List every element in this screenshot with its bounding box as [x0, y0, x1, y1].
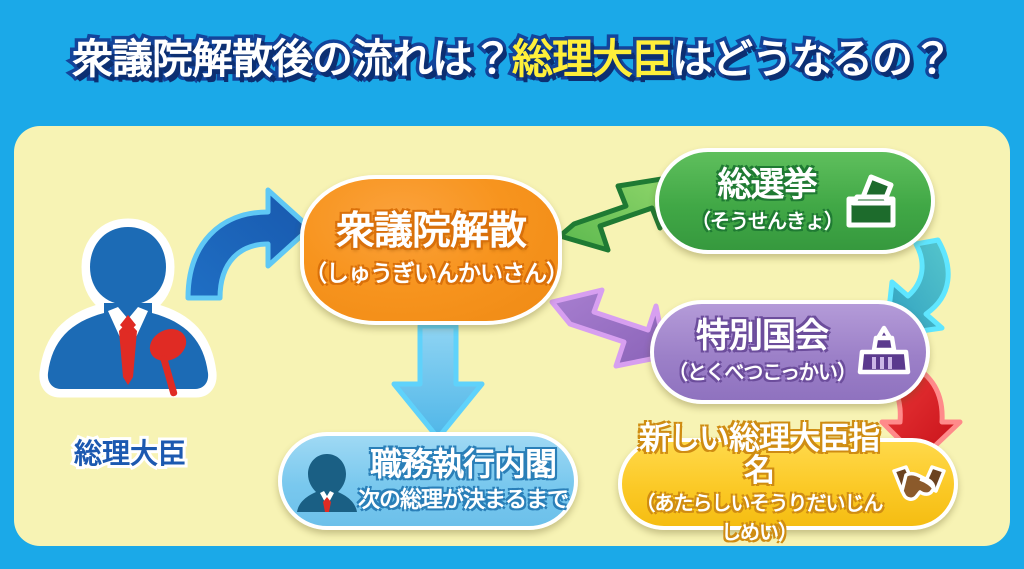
node-dissolution-ruby: （しゅうぎいんかいさん） [304, 254, 558, 288]
node-diet-ruby: （とくべつこっかい） [668, 356, 856, 385]
node-diet-label: 特別国会 [668, 319, 856, 354]
light-blue-down-arrow [386, 322, 490, 444]
curved-blue-arrow [176, 182, 316, 308]
node-new-pm-ruby: （あたらしいそうりだいじんしめい） [628, 487, 890, 545]
diet-building-icon [856, 324, 912, 380]
node-new-pm-nomination[interactable]: 新しい総理大臣指名 （あたらしいそうりだいじんしめい） [618, 438, 958, 530]
node-election-label: 総選挙 [691, 168, 843, 203]
page-title: 衆議院解散後の流れは？総理大臣はどうなるの？ [72, 39, 952, 80]
infographic-screen: 衆議院解散後の流れは？総理大臣はどうなるの？ 総理大臣 [0, 0, 1024, 569]
node-dissolution-label: 衆議院解散 [336, 212, 526, 253]
cabinet-minister-icon [296, 448, 358, 514]
pm-figure-label: 総理大臣 [30, 432, 230, 472]
node-diet-session[interactable]: 特別国会 （とくべつこっかい） [650, 300, 930, 404]
title-segment-white-2: はどうなるの？ [672, 39, 952, 80]
title-segment-white-1: 衆議院解散後の流れは？ [72, 39, 512, 80]
node-election-ruby: （そうせんきょ） [691, 205, 843, 234]
title-segment-yellow: 総理大臣 [512, 39, 672, 80]
node-caretaker-cabinet[interactable]: 職務執行内閣 次の総理が決まるまで [278, 432, 578, 530]
handshake-icon [890, 461, 948, 507]
ballot-box-icon [843, 171, 899, 231]
node-caretaker-ruby: 次の総理が決まるまで [358, 482, 568, 514]
green-arrow [556, 164, 672, 256]
node-election[interactable]: 総選挙 （そうせんきょ） [655, 148, 935, 254]
node-caretaker-label: 職務執行内閣 [358, 448, 568, 481]
node-new-pm-label: 新しい総理大臣指名 [628, 423, 890, 487]
node-dissolution[interactable]: 衆議院解散 （しゅうぎいんかいさん） [300, 175, 562, 325]
title-bar: 衆議院解散後の流れは？総理大臣はどうなるの？ [0, 0, 1024, 118]
